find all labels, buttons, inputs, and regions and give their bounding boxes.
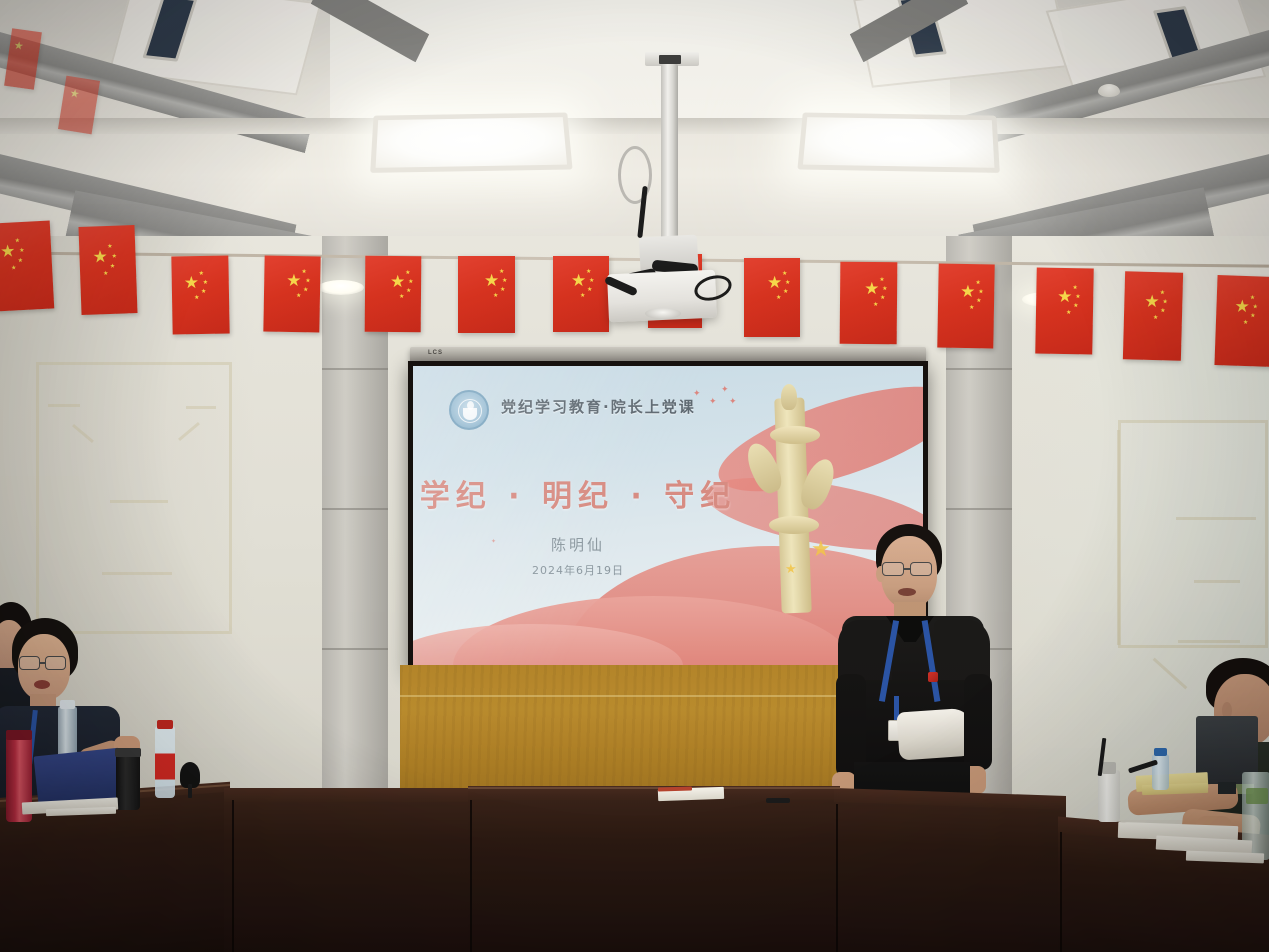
pen-center-table	[766, 798, 790, 803]
center-left-table-front-panel	[224, 802, 474, 952]
attendee-woman-glasses-left-lens	[19, 656, 40, 670]
slide-birds-flock: ✦	[721, 384, 729, 395]
water-bottle-far-right-label	[1246, 788, 1268, 804]
presenter-right-arm	[964, 674, 992, 770]
presenter-glasses-right-lens	[910, 562, 932, 576]
presenter-shoulder-right	[934, 620, 990, 680]
slide-title-text: 学纪 · 明纪 · 守纪	[413, 471, 743, 515]
slide-header-text: 党纪学习教育·院长上党课	[501, 396, 696, 417]
tape-mark-left-top-a	[48, 404, 80, 407]
tape-mark-left-top-b	[186, 406, 216, 409]
smoke-detector	[1098, 84, 1120, 97]
china-flag: ★ ★ ★ ★ ★	[1035, 268, 1093, 355]
huabiao-ring-top	[770, 426, 820, 444]
attendee-woman-mouth	[34, 680, 50, 689]
projector-mount-pole	[661, 64, 678, 254]
water-bottle-right-cap	[1154, 748, 1167, 756]
tape-mark-left-center	[110, 500, 168, 503]
presenter-party-emblem-pin	[928, 672, 938, 682]
led-panel-light-right	[797, 113, 999, 173]
slide-date-text: 2024年6月19日	[413, 562, 743, 578]
huabiao-ring-mid	[769, 516, 819, 534]
presenter-glasses-left-lens	[882, 562, 904, 576]
meeting-room-scene: ★ ★ ★ ★ ★ ★ ★ ★ ★ ★ ★ ★ ★ ★ ★ ★ ★ ★ ★ ★	[0, 0, 1269, 952]
china-flag: ★ ★ ★ ★ ★	[263, 256, 320, 333]
presenter-glasses-bridge	[903, 568, 911, 570]
china-flag: ★ ★ ★ ★ ★	[1214, 275, 1269, 367]
standing-presenter	[828, 524, 998, 824]
table-seam-3	[836, 804, 838, 952]
tape-mark-right-c	[1178, 640, 1240, 643]
tape-mark-right-vert	[1117, 430, 1120, 645]
screen-brand-label: LCS	[428, 350, 443, 356]
china-flag: ★ ★ ★ ★ ★	[0, 221, 54, 312]
table-seam-2	[470, 800, 472, 952]
institution-emblem-icon	[449, 390, 489, 430]
black-thermos-lid	[115, 748, 141, 757]
slide-presenter-name: 陈明仙	[413, 534, 743, 555]
red-thermos-lid	[6, 730, 32, 740]
china-flag: ★ ★ ★ ★ ★	[553, 256, 609, 332]
projector-cable-loop	[618, 146, 652, 204]
table-seam-1	[232, 800, 234, 952]
china-flag: ★ ★ ★ ★ ★	[365, 256, 422, 332]
attendee-woman-glasses-right-lens	[45, 656, 66, 670]
monitor-stand	[1218, 782, 1236, 794]
downlight-left	[318, 280, 364, 295]
presenter-mouth	[898, 588, 916, 596]
water-bottle-red-cap	[157, 720, 173, 729]
poster-tape-mark-left	[36, 362, 232, 634]
china-flag: ★ ★ ★ ★ ★	[171, 256, 229, 335]
led-panel-light-left	[370, 113, 572, 173]
slide-birds-flock: ✦	[709, 396, 717, 407]
slide-birds-flock: ✦	[729, 396, 737, 407]
poster-tape-mark-right	[1118, 420, 1268, 648]
black-thermos	[116, 752, 140, 810]
microphone-stem	[188, 784, 192, 798]
table-seam-4	[1060, 832, 1062, 952]
ceiling	[0, 0, 1269, 250]
china-flag: ★ ★ ★ ★ ★	[840, 262, 898, 344]
ceiling-soffit	[0, 118, 1269, 134]
table-edge-highlight-center	[468, 787, 840, 789]
china-flag: ★ ★ ★ ★ ★	[78, 225, 137, 315]
china-flag: ★ ★ ★ ★ ★	[937, 264, 994, 349]
china-flag: ★ ★ ★ ★ ★	[744, 258, 800, 337]
emblem-cup	[463, 408, 477, 420]
attendee-woman-glasses-bridge	[39, 662, 46, 664]
slide-gold-star-small: ★	[785, 562, 797, 575]
tape-mark-right-b	[1194, 580, 1240, 583]
water-bottle-red-label	[155, 726, 175, 798]
china-flag: ★ ★ ★ ★ ★	[1123, 271, 1183, 360]
tape-mark-right-a	[1176, 517, 1256, 520]
center-right-table-front-panel	[834, 802, 1066, 952]
tape-mark-left-lower	[102, 572, 172, 575]
china-flag: ★ ★ ★ ★ ★	[458, 256, 515, 333]
huabiao-cap	[781, 384, 797, 410]
center-table-front-panel	[468, 800, 840, 952]
spray-bottle	[1098, 770, 1120, 822]
left-table-front-panel	[0, 792, 230, 952]
spray-bottle-nozzle	[1102, 762, 1116, 774]
projector-lens	[645, 308, 681, 319]
water-bottle-clear-cap	[60, 700, 75, 709]
